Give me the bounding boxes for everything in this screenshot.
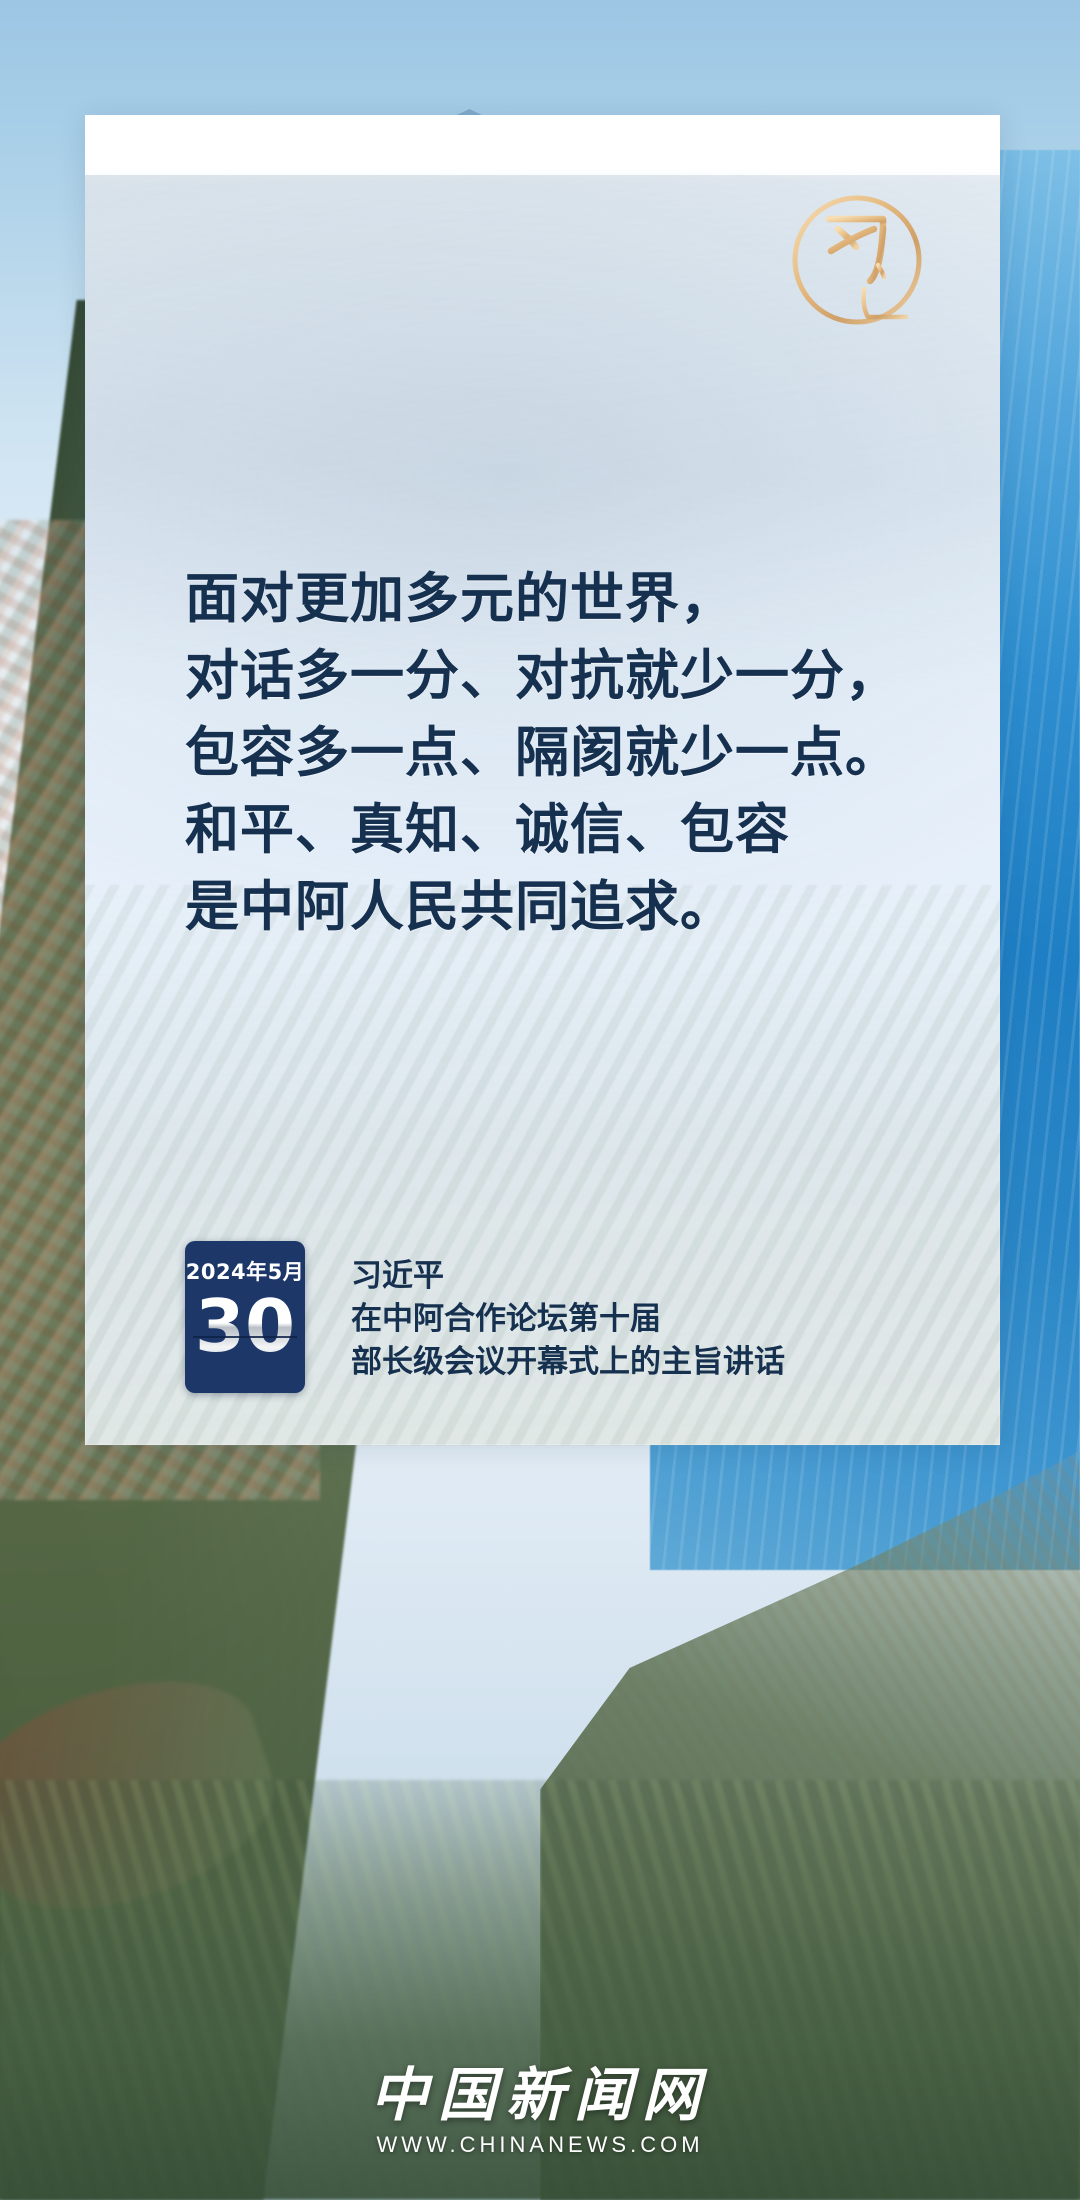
poster-root: 面对更加多元的世界， 对话多一分、对抗就少一分， 包容多一点、隔阂就少一点。 和… (0, 0, 1080, 2200)
quote-line: 是中阿人民共同追求。 (185, 868, 940, 945)
xi-yan-dao-seal-icon (782, 185, 932, 335)
quote-line: 对话多一分、对抗就少一分， (185, 637, 940, 714)
credit-text: 习近平 在中阿合作论坛第十届 部长级会议开幕式上的主旨讲话 (351, 1241, 785, 1384)
speaker-name: 习近平 (351, 1255, 785, 1298)
credit-block: 2024年5月 30 习近平 在中阿合作论坛第十届 部长级会议开幕式上的主旨讲话 (185, 1241, 785, 1393)
date-day: 30 (195, 1288, 295, 1364)
quote-line: 面对更加多元的世界， (185, 560, 940, 637)
date-year-month: 2024年5月 (186, 1256, 305, 1286)
chinanews-brand: 中国新闻网 WWW.CHINANEWS.COM (0, 2062, 1080, 2158)
quote-text: 面对更加多元的世界， 对话多一分、对抗就少一分， 包容多一点、隔阂就少一点。 和… (185, 560, 940, 945)
quote-line: 包容多一点、隔阂就少一点。 (185, 714, 940, 791)
occasion-line-1: 在中阿合作论坛第十届 (351, 1298, 785, 1341)
date-badge: 2024年5月 30 (185, 1241, 305, 1393)
flip-divider-line (193, 1336, 297, 1338)
quote-line: 和平、真知、诚信、包容 (185, 791, 940, 868)
occasion-line-2: 部长级会议开幕式上的主旨讲话 (351, 1341, 785, 1384)
quote-card: 面对更加多元的世界， 对话多一分、对抗就少一分， 包容多一点、隔阂就少一点。 和… (85, 115, 1000, 1445)
brand-url: WWW.CHINANEWS.COM (0, 2132, 1080, 2158)
brand-name-cn: 中国新闻网 (0, 2062, 1080, 2128)
